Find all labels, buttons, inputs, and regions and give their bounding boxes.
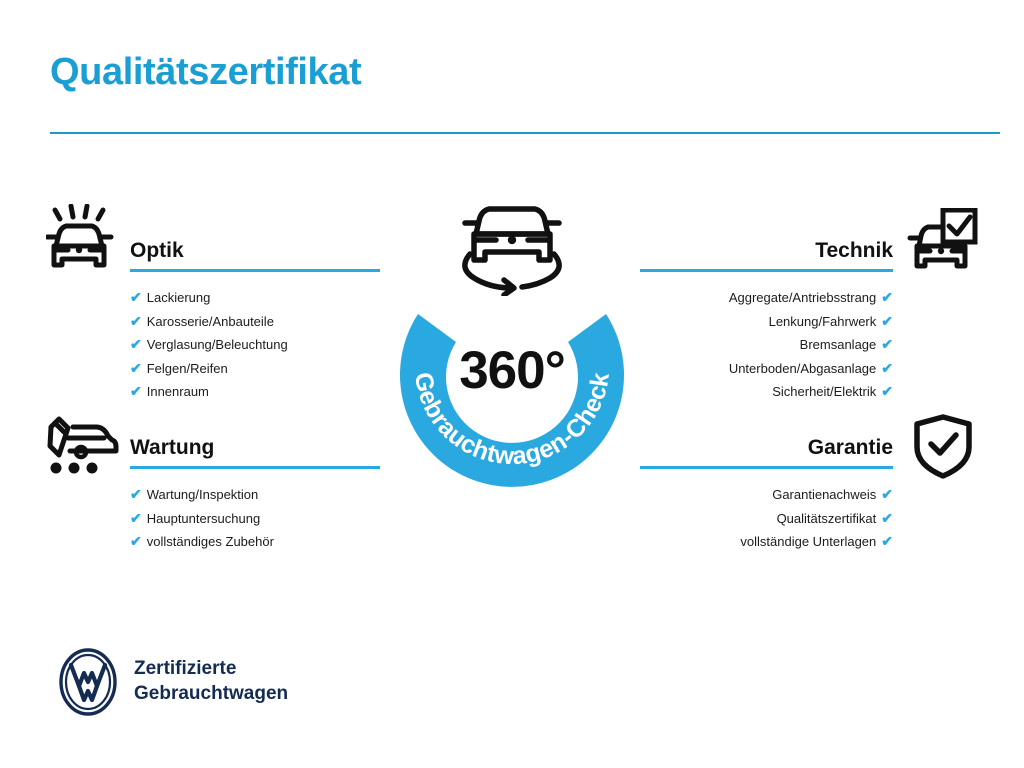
section-garantie: Garantie Garantienachweis✔ Qualitätszert… bbox=[640, 435, 893, 554]
pencil-car-icon bbox=[46, 414, 122, 481]
check-icon: ✔ bbox=[881, 360, 893, 376]
shield-check-icon bbox=[912, 414, 974, 485]
list-item: ✔Hauptuntersuchung bbox=[130, 507, 380, 531]
header-divider bbox=[50, 132, 1000, 134]
list-item-label: Felgen/Reifen bbox=[147, 361, 228, 376]
section-optik-list: ✔Lackierung ✔Karosserie/Anbauteile ✔Verg… bbox=[130, 286, 380, 404]
list-item-label: Aggregate/Antriebsstrang bbox=[729, 290, 876, 305]
list-item: Unterboden/Abgasanlage✔ bbox=[640, 357, 893, 381]
section-technik-divider bbox=[640, 269, 893, 272]
check-icon: ✔ bbox=[130, 383, 142, 399]
list-item-label: vollständiges Zubehör bbox=[147, 534, 274, 549]
brand-text: Zertifizierte Gebrauchtwagen bbox=[134, 656, 288, 706]
car-shine-icon bbox=[46, 204, 122, 283]
section-optik-divider bbox=[130, 269, 380, 272]
page-title: Qualitätszertifikat bbox=[50, 52, 361, 94]
list-item: ✔Karosserie/Anbauteile bbox=[130, 310, 380, 334]
list-item-label: Garantienachweis bbox=[772, 487, 876, 502]
certificate-page: Qualitätszertifikat bbox=[0, 0, 1024, 768]
list-item-label: Lackierung bbox=[147, 290, 211, 305]
section-technik-header: Technik bbox=[640, 238, 893, 272]
list-item: Qualitätszertifikat✔ bbox=[640, 507, 893, 531]
section-optik-header: Optik bbox=[130, 238, 380, 272]
section-garantie-title: Garantie bbox=[640, 435, 893, 461]
check-icon: ✔ bbox=[881, 289, 893, 305]
list-item: vollständige Unterlagen✔ bbox=[640, 530, 893, 554]
list-item-label: Hauptuntersuchung bbox=[147, 511, 260, 526]
section-wartung-divider bbox=[130, 466, 380, 469]
list-item-label: Karosserie/Anbauteile bbox=[147, 314, 274, 329]
check-icon: ✔ bbox=[130, 486, 142, 502]
section-wartung-list: ✔Wartung/Inspektion ✔Hauptuntersuchung ✔… bbox=[130, 483, 380, 554]
list-item-label: Innenraum bbox=[147, 384, 209, 399]
section-wartung-header: Wartung bbox=[130, 435, 380, 469]
list-item: Sicherheit/Elektrik✔ bbox=[640, 380, 893, 404]
list-item-label: Wartung/Inspektion bbox=[147, 487, 259, 502]
list-item: ✔Innenraum bbox=[130, 380, 380, 404]
brand-line-1: Zertifizierte bbox=[134, 656, 288, 681]
check-icon: ✔ bbox=[881, 336, 893, 352]
section-garantie-header: Garantie bbox=[640, 435, 893, 469]
section-technik-list: Aggregate/Antriebsstrang✔ Lenkung/Fahrwe… bbox=[640, 286, 893, 404]
check-icon: ✔ bbox=[881, 533, 893, 549]
list-item-label: Bremsanlage bbox=[800, 337, 877, 352]
badge-360-check: Gebrauchtwagen-Check 360° bbox=[378, 192, 646, 492]
list-item: Garantienachweis✔ bbox=[640, 483, 893, 507]
badge-value: 360° bbox=[378, 344, 646, 398]
check-icon: ✔ bbox=[881, 486, 893, 502]
list-item: ✔Verglasung/Beleuchtung bbox=[130, 333, 380, 357]
check-icon: ✔ bbox=[130, 360, 142, 376]
vw-logo-icon bbox=[58, 648, 118, 716]
check-icon: ✔ bbox=[130, 336, 142, 352]
check-icon: ✔ bbox=[130, 533, 142, 549]
section-garantie-divider bbox=[640, 466, 893, 469]
section-technik-title: Technik bbox=[640, 238, 893, 264]
car-checkbox-icon bbox=[906, 208, 978, 281]
list-item-label: Verglasung/Beleuchtung bbox=[147, 337, 288, 352]
list-item: ✔vollständiges Zubehör bbox=[130, 530, 380, 554]
list-item: ✔Felgen/Reifen bbox=[130, 357, 380, 381]
brand-line-2: Gebrauchtwagen bbox=[134, 681, 288, 706]
list-item-label: Lenkung/Fahrwerk bbox=[769, 314, 877, 329]
list-item-label: Sicherheit/Elektrik bbox=[772, 384, 876, 399]
list-item-label: Unterboden/Abgasanlage bbox=[729, 361, 876, 376]
check-icon: ✔ bbox=[130, 289, 142, 305]
list-item: Lenkung/Fahrwerk✔ bbox=[640, 310, 893, 334]
list-item: ✔Wartung/Inspektion bbox=[130, 483, 380, 507]
section-wartung-title: Wartung bbox=[130, 435, 380, 461]
list-item-label: vollständige Unterlagen bbox=[740, 534, 876, 549]
check-icon: ✔ bbox=[130, 510, 142, 526]
check-icon: ✔ bbox=[881, 313, 893, 329]
list-item: Aggregate/Antriebsstrang✔ bbox=[640, 286, 893, 310]
list-item: Bremsanlage✔ bbox=[640, 333, 893, 357]
section-optik: Optik ✔Lackierung ✔Karosserie/Anbauteile… bbox=[130, 238, 380, 404]
section-technik: Technik Aggregate/Antriebsstrang✔ Lenkun… bbox=[640, 238, 893, 404]
check-icon: ✔ bbox=[881, 383, 893, 399]
section-garantie-list: Garantienachweis✔ Qualitätszertifikat✔ v… bbox=[640, 483, 893, 554]
list-item: ✔Lackierung bbox=[130, 286, 380, 310]
check-icon: ✔ bbox=[130, 313, 142, 329]
section-wartung: Wartung ✔Wartung/Inspektion ✔Hauptunters… bbox=[130, 435, 380, 554]
section-optik-title: Optik bbox=[130, 238, 380, 264]
check-icon: ✔ bbox=[881, 510, 893, 526]
car-rotate-icon bbox=[452, 192, 572, 296]
list-item-label: Qualitätszertifikat bbox=[777, 511, 877, 526]
